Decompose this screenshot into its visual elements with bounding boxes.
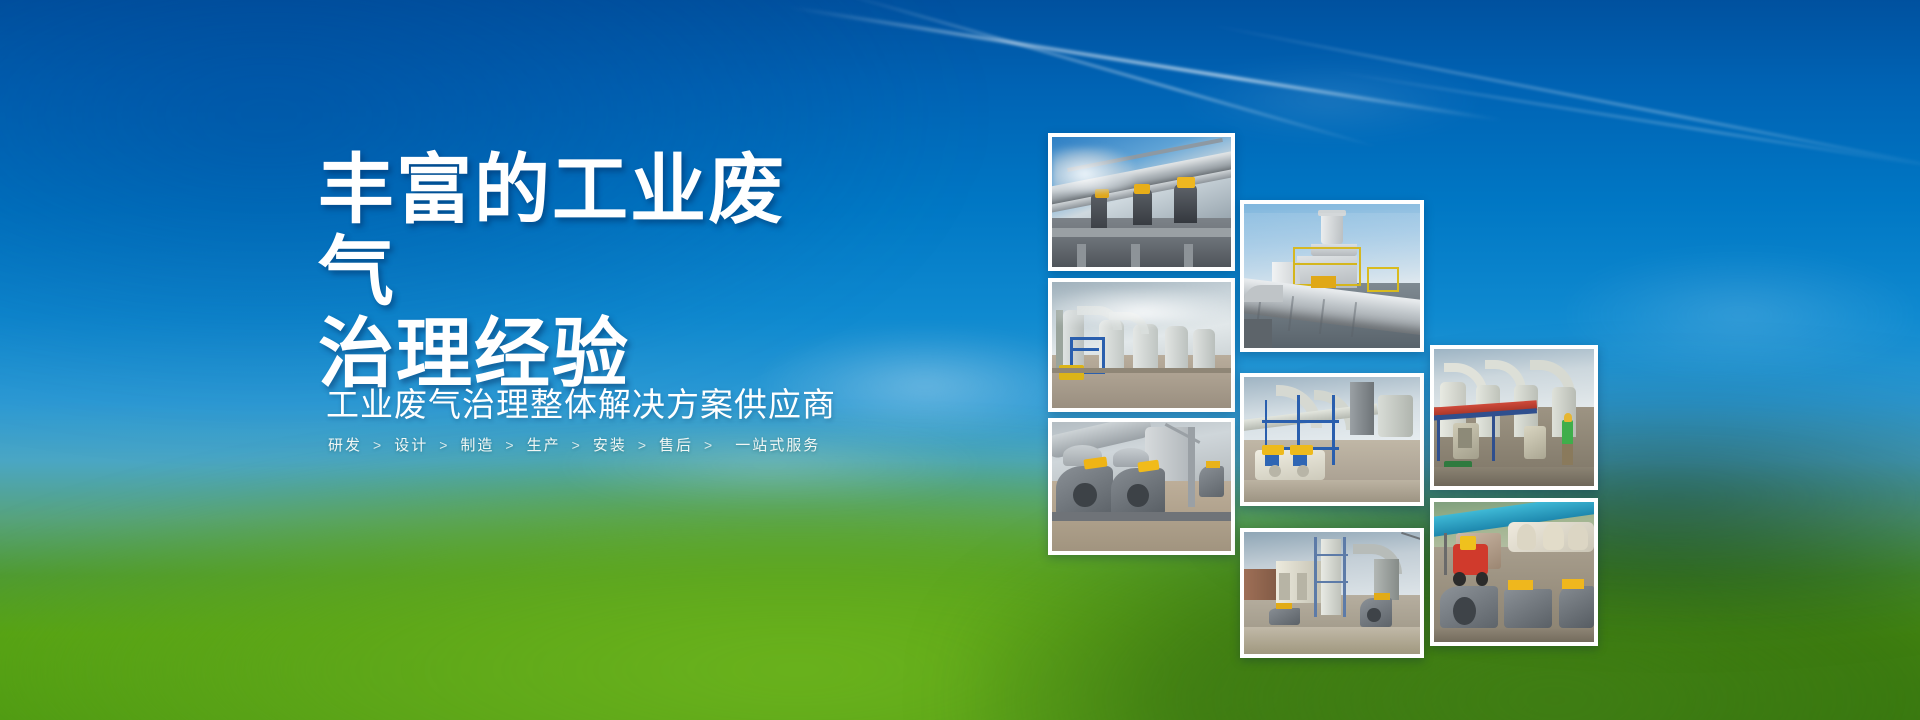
breadcrumb-step-installation: 安装 <box>593 434 627 455</box>
cloud-wisp-icon <box>1560 250 1920 380</box>
breadcrumb-step-onestop: 一站式服务 <box>725 434 820 455</box>
hero-copy-block: 丰富的工业废气 治理经验 工业废气治理整体解决方案供应商 研发 > 设计 > 制… <box>318 150 838 396</box>
collage-photo-duct-line[interactable] <box>1048 133 1235 271</box>
contrail-streak <box>1210 24 1920 171</box>
hero-subtitle: 工业废气治理整体解决方案供应商 <box>326 378 836 426</box>
chevron-right-icon: > <box>428 437 460 453</box>
contrail-streak <box>840 0 1379 148</box>
breadcrumb-step-aftersales: 售后 <box>659 434 693 455</box>
chevron-right-icon: > <box>693 437 725 453</box>
breadcrumb-step-manufacture: 制造 <box>460 434 494 455</box>
chevron-right-icon: > <box>362 437 394 453</box>
page-title: 丰富的工业废气 治理经验 <box>318 150 838 396</box>
hero-banner: 丰富的工业废气 治理经验 工业废气治理整体解决方案供应商 研发 > 设计 > 制… <box>0 0 1920 720</box>
breadcrumb: 研发 > 设计 > 制造 > 生产 > 安装 > 售后 > 一站式服务 <box>328 434 820 455</box>
project-photo-collage <box>0 0 1920 720</box>
collage-photo-pp-ducting[interactable] <box>1240 373 1424 506</box>
chevron-right-icon: > <box>561 437 593 453</box>
collage-photo-scrubber-stacks[interactable] <box>1240 528 1424 658</box>
collage-photo-centrifugal-fans[interactable] <box>1048 418 1235 555</box>
breadcrumb-step-rd: 研发 <box>328 434 362 455</box>
breadcrumb-step-production: 生产 <box>527 434 561 455</box>
collage-photo-canopy-operator[interactable] <box>1430 345 1598 490</box>
contrail-streak <box>1330 70 1920 169</box>
cloud-wisp-icon <box>1180 60 1480 140</box>
collage-photo-scrubber-towers[interactable] <box>1048 278 1235 412</box>
breadcrumb-step-design: 设计 <box>394 434 428 455</box>
collage-photo-yard-forklift[interactable] <box>1430 498 1598 646</box>
chevron-right-icon: > <box>627 437 659 453</box>
collage-photo-rto-unit[interactable] <box>1240 200 1424 352</box>
chevron-right-icon: > <box>494 437 526 453</box>
contrail-streak <box>790 6 1502 122</box>
